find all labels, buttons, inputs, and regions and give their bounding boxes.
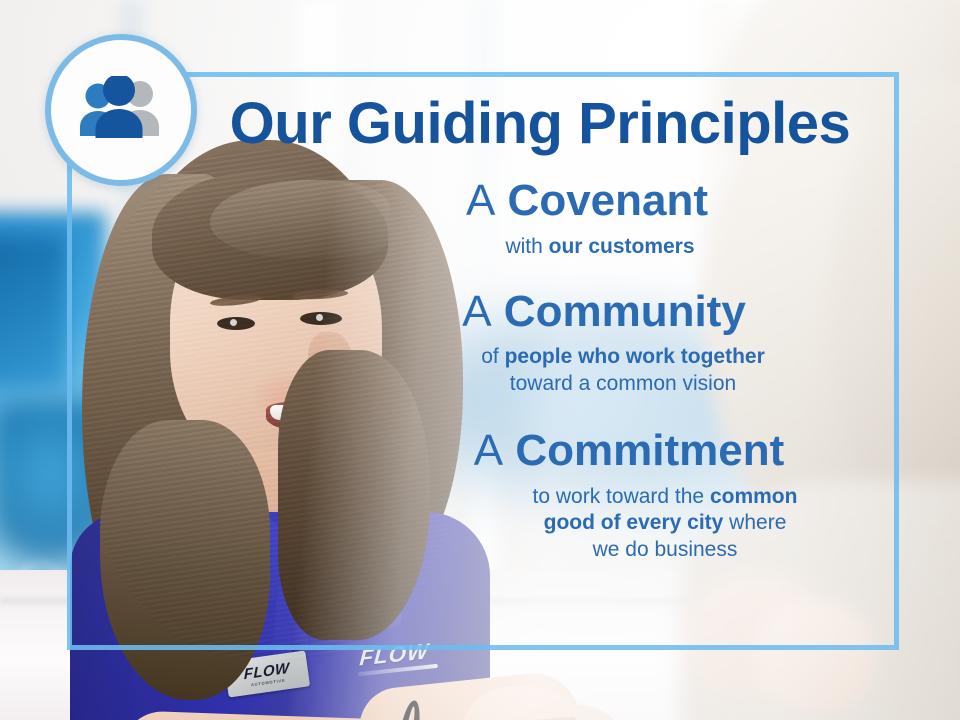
people-badge: [45, 34, 197, 186]
principle-commitment: A Commitment to work toward the commongo…: [300, 428, 900, 564]
principle-text: where: [723, 511, 786, 534]
page-title: Our Guiding Principles: [210, 95, 870, 153]
principle-subtext: with our customers: [300, 234, 900, 261]
principle-keyword: Covenant: [508, 176, 708, 225]
principle-subtext: of people who work togethertoward a comm…: [300, 344, 900, 398]
principle-covenant: A Covenant with our customers: [300, 178, 900, 261]
principle-lead-word: A: [462, 287, 491, 336]
principle-text: of: [481, 345, 504, 368]
principle-text: with: [505, 235, 548, 258]
principle-emphasis: common: [710, 485, 798, 508]
principle-lead-word: A: [474, 426, 503, 475]
poster-dark-panel: [0, 236, 66, 386]
principle-subtext: to work toward the commongood of every c…: [300, 484, 900, 565]
principle-heading: A Covenant: [300, 178, 900, 225]
principle-emphasis: our customers: [549, 235, 695, 258]
principle-text: to work toward the: [533, 485, 710, 508]
principle-emphasis: people who work together: [505, 345, 765, 368]
principle-text: we do business: [593, 538, 738, 561]
foreground-customer-hand: [756, 600, 876, 710]
principles-list: A Covenant with our customers A Communit…: [300, 178, 900, 564]
guiding-principles-graphic: FLOW AUTOMOTIVE FLOW: [0, 0, 960, 720]
principle-keyword: Commitment: [515, 426, 784, 475]
principle-keyword: Community: [504, 287, 746, 336]
principle-heading: A Community: [300, 289, 900, 336]
principle-lead-word: A: [466, 176, 495, 225]
principle-community: A Community of people who work togethert…: [300, 289, 900, 398]
principle-text: toward a common vision: [510, 372, 736, 395]
principle-heading: A Commitment: [300, 428, 900, 475]
group-of-people-icon: [73, 76, 169, 144]
principle-emphasis: good of every city: [544, 511, 724, 534]
